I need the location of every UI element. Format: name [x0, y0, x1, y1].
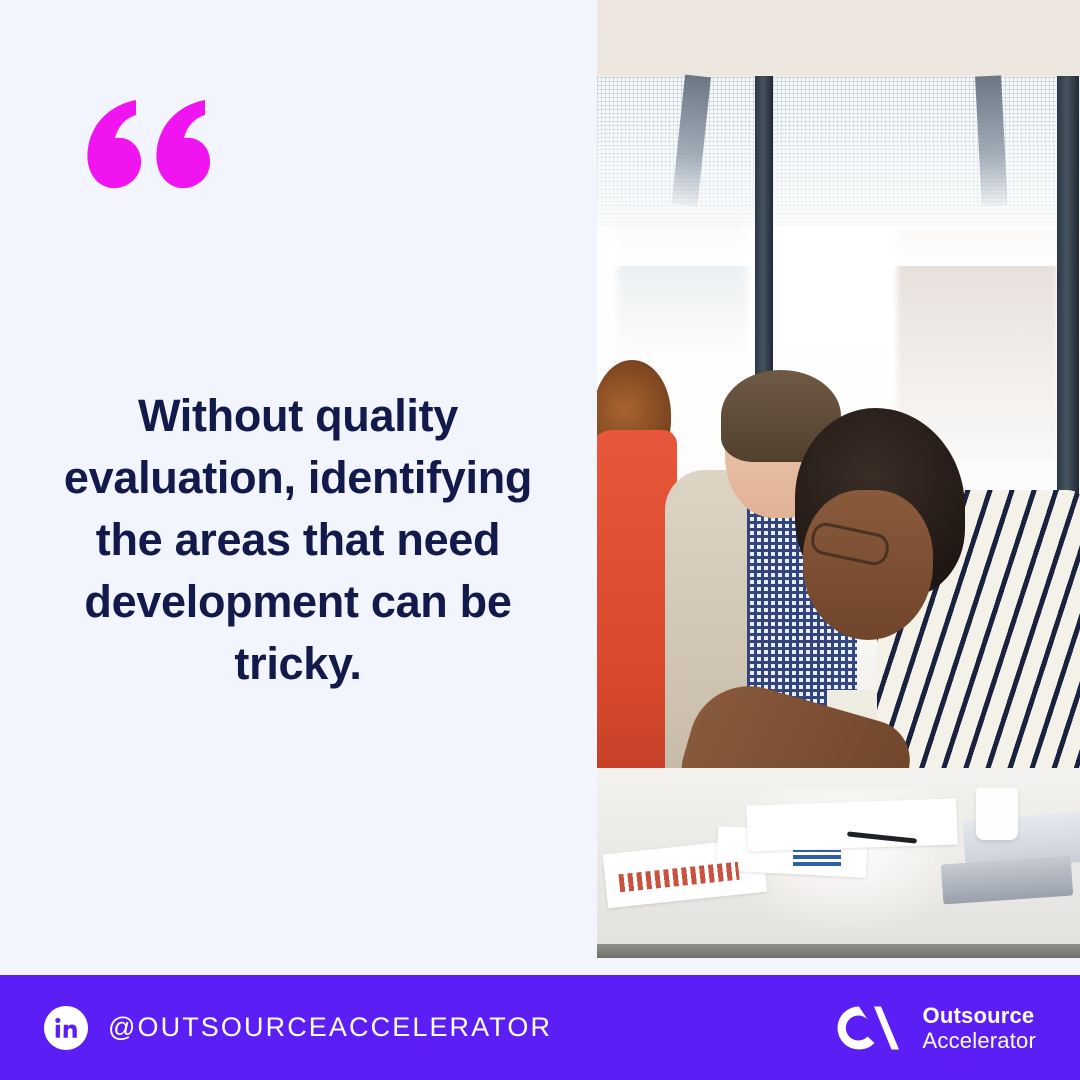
- brand-logo-group: Outsource Accelerator: [833, 1002, 1036, 1054]
- photo-document: [746, 798, 957, 851]
- photo-ceiling: [597, 0, 1080, 76]
- outsource-accelerator-logo-icon: [833, 1002, 907, 1054]
- brand-wordmark: Outsource Accelerator: [923, 1003, 1036, 1053]
- social-handle-text[interactable]: @OUTSOURCEACCELERATOR: [108, 1012, 552, 1043]
- brand-line-accelerator: Accelerator: [923, 1028, 1036, 1053]
- photo-person-face-glasses: [803, 490, 933, 640]
- photo-table-edge: [597, 944, 1080, 958]
- photo-coffee-mug: [976, 788, 1018, 840]
- footer-bar: @OUTSOURCEACCELERATOR Outsource Accelera…: [0, 975, 1080, 1080]
- social-handle-group[interactable]: @OUTSOURCEACCELERATOR: [44, 1006, 552, 1050]
- photo-conference-table: [597, 768, 1080, 958]
- photo-shade-fade: [597, 76, 1080, 266]
- photo-chart-bars-blue: [793, 850, 841, 866]
- quote-text: Without quality evaluation, identifying …: [58, 385, 538, 695]
- brand-line-outsource: Outsource: [923, 1003, 1036, 1028]
- quote-panel: Without quality evaluation, identifying …: [0, 0, 597, 975]
- double-quote-open-icon: [86, 98, 210, 190]
- linkedin-icon[interactable]: [44, 1006, 88, 1050]
- photo-tablet: [941, 856, 1073, 905]
- photo-office-team: [597, 0, 1080, 958]
- social-post-canvas: Without quality evaluation, identifying …: [0, 0, 1080, 1080]
